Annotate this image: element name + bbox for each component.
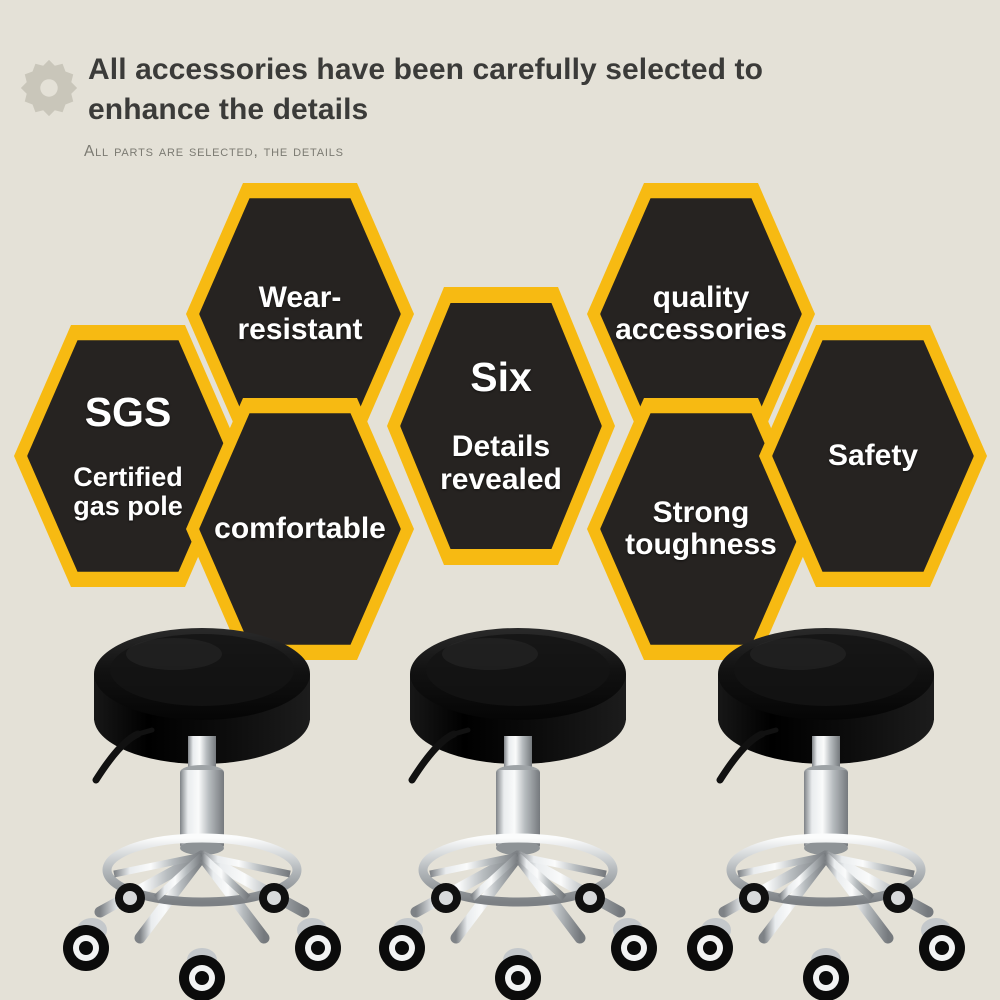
hex-label-safety: Safety [822,440,924,472]
gear-icon [18,56,80,118]
infographic-page: All accessories have been carefully sele… [0,0,1000,1000]
hex-cell-six-details[interactable]: Six Details revealed [387,287,615,565]
hex-label-sgs: SGS Certified gas pole [67,362,189,550]
hex-label-strong-toughness: Strong toughness [619,497,783,561]
page-title: All accessories have been carefully sele… [88,50,968,130]
product-photo-row [0,612,1000,1000]
product-image-stool-3 [676,612,976,1000]
hex-label-wear-resistant: Wear- resistant [231,282,368,346]
hex-label-quality-accessories: quality accessories [609,282,793,346]
product-image-stool-1 [52,612,352,1000]
hex-text-six: Details revealed [440,431,562,496]
honeycomb-diagram: SGS Certified gas pole Wear- resistant c… [0,170,1000,600]
hex-text-sgs: Certified gas pole [73,463,183,521]
product-image-stool-2 [368,612,668,1000]
header-section: All accessories have been carefully sele… [0,0,1000,175]
page-subtitle: All parts are selected, the details [84,143,344,161]
header-text-block: All accessories have been carefully sele… [88,50,968,130]
hex-headline-six: Six [440,356,562,399]
hex-headline-sgs: SGS [73,391,183,434]
hex-label-comfortable: comfortable [208,513,392,545]
hex-label-six-details: Six Details revealed [434,324,568,529]
